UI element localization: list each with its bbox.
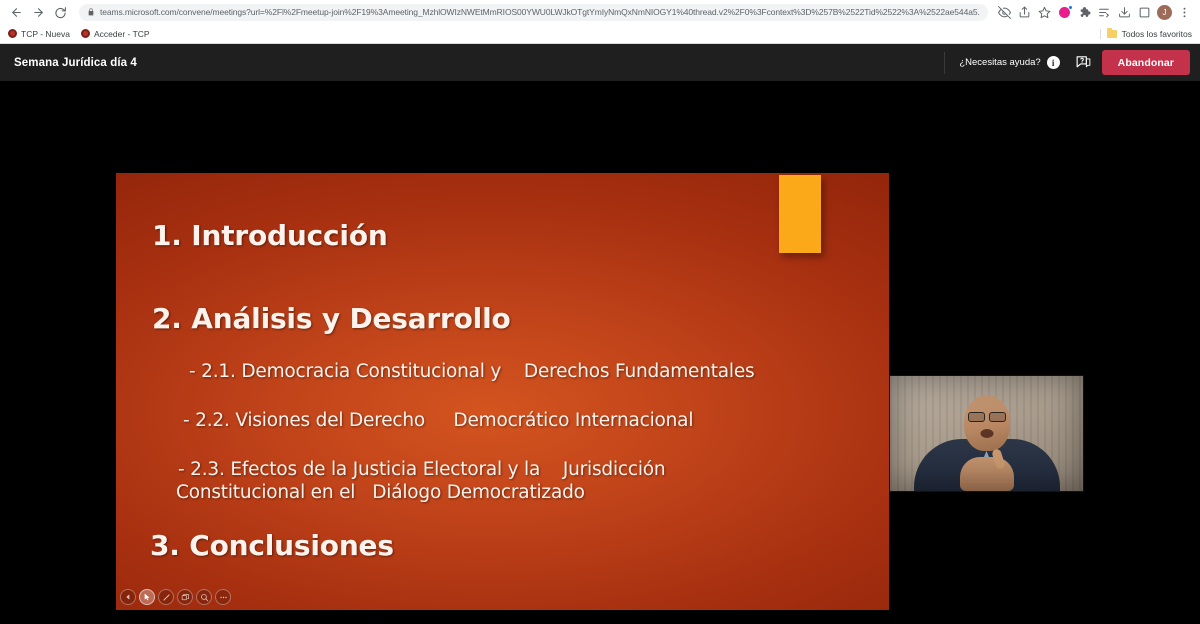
bookmark-label: TCP - Nueva: [21, 29, 70, 39]
reload-icon[interactable]: [50, 2, 70, 22]
header-actions: ¿Necesitas ayuda? i Abandonar: [944, 44, 1190, 81]
url-text: teams.microsoft.com/convene/meetings?url…: [100, 4, 980, 21]
pointer-button[interactable]: [139, 589, 155, 605]
presenter-video-tile[interactable]: [889, 375, 1084, 492]
bookmark-item[interactable]: TCP - Nueva: [8, 29, 70, 39]
slide-line-2: 2. Análisis y Desarrollo: [152, 302, 877, 335]
downloads-icon[interactable]: [1115, 3, 1134, 22]
address-bar[interactable]: teams.microsoft.com/convene/meetings?url…: [79, 4, 988, 21]
powerpoint-presenter-toolbar: [120, 589, 231, 605]
bookmark-item[interactable]: Acceder - TCP: [81, 29, 150, 39]
pen-button[interactable]: [158, 589, 174, 605]
shared-slide[interactable]: 1. Introducción 2. Análisis y Desarrollo…: [116, 173, 889, 610]
bookmark-label: Acceder - TCP: [94, 29, 150, 39]
browser-toolbar-icons: J: [995, 3, 1194, 22]
zoom-button[interactable]: [196, 589, 212, 605]
lock-icon: [87, 8, 95, 16]
slide-line-1: 1. Introducción: [152, 219, 877, 252]
bookmark-star-icon[interactable]: [1035, 3, 1054, 22]
omnibox-row: teams.microsoft.com/convene/meetings?url…: [0, 0, 1200, 24]
all-bookmarks-label: Todos los favoritos: [1122, 29, 1192, 39]
slide-line-4: - 2.2. Visiones del Derecho Democrático …: [183, 410, 877, 431]
meeting-stage: 1. Introducción 2. Análisis y Desarrollo…: [0, 81, 1200, 624]
slides-grid-button[interactable]: [177, 589, 193, 605]
question-bubble-icon[interactable]: [1074, 53, 1094, 73]
site-favicon-icon: [8, 29, 17, 38]
need-help-label: ¿Necesitas ayuda?: [959, 57, 1040, 68]
extensions-puzzle-icon[interactable]: [1075, 3, 1094, 22]
forward-icon[interactable]: [28, 2, 48, 22]
more-menu-icon[interactable]: [1175, 3, 1194, 22]
slide-line-6: Constitucional en el Diálogo Democratiza…: [176, 482, 877, 503]
eye-off-icon[interactable]: [995, 3, 1014, 22]
video-vignette: [890, 376, 1083, 491]
need-help-button[interactable]: ¿Necesitas ayuda? i: [944, 52, 1071, 74]
more-options-button[interactable]: [215, 589, 231, 605]
browser-chrome: teams.microsoft.com/convene/meetings?url…: [0, 0, 1200, 44]
info-icon[interactable]: i: [1047, 56, 1060, 69]
back-icon[interactable]: [6, 2, 26, 22]
site-favicon-icon: [81, 29, 90, 38]
teams-meeting-header: Semana Jurídica día 4 ¿Necesitas ayuda? …: [0, 44, 1200, 81]
slide-line-5: - 2.3. Efectos de la Justicia Electoral …: [178, 459, 877, 480]
share-icon[interactable]: [1015, 3, 1034, 22]
split-screen-icon[interactable]: [1135, 3, 1154, 22]
all-bookmarks-button[interactable]: Todos los favoritos: [1100, 29, 1192, 39]
bookmarks-bar: TCP - Nueva Acceder - TCP Todos los favo…: [0, 24, 1200, 44]
meeting-title: Semana Jurídica día 4: [14, 57, 137, 69]
slide-line-7: 3. Conclusiones: [150, 529, 877, 562]
profile-avatar-icon[interactable]: J: [1155, 3, 1174, 22]
slide-content: 1. Introducción 2. Análisis y Desarrollo…: [116, 173, 889, 610]
previous-slide-button[interactable]: [120, 589, 136, 605]
extension-pink-icon[interactable]: [1055, 3, 1074, 22]
reading-list-icon[interactable]: [1095, 3, 1114, 22]
leave-meeting-button[interactable]: Abandonar: [1102, 50, 1190, 75]
avatar: J: [1157, 5, 1172, 20]
folder-icon: [1107, 30, 1117, 38]
slide-line-3: - 2.1. Democracia Constitucional y Derec…: [189, 361, 877, 382]
